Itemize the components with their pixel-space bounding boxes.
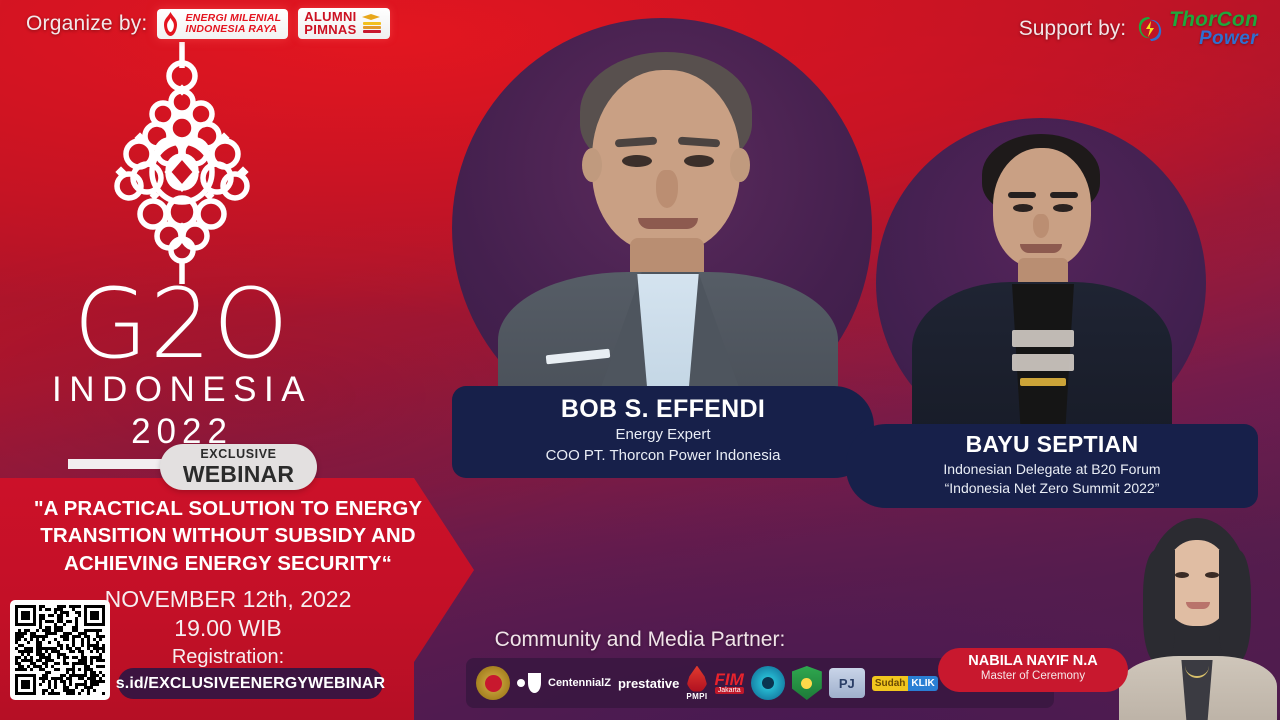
speaker-2-name-card: BAYU SEPTIAN Indonesian Delegate at B20 … [846,424,1258,508]
speaker-1-role-line1: Energy Expert [452,425,874,446]
thorcon-line1: ThorCon [1169,10,1258,30]
organize-by-group: Organize by: ENERGI MILENIAL INDONESIA R… [26,8,390,39]
exclusive-webinar-badge: EXCLUSIVE WEBINAR [160,444,317,490]
g20-wordmark: G2O [52,282,312,366]
pmpi-logo: PMPI [686,664,707,702]
pj-book-logo: PJ [829,664,865,702]
mc-role: Master of Ceremony [938,669,1128,684]
prestative-academy-logo: prestative [618,664,679,702]
fim-jakarta-logo: FIM Jakarta [715,664,744,702]
atom-community-logo [751,664,785,702]
speaker-2-name: BAYU SEPTIAN [846,432,1258,458]
centennialz-logo: CentennialZ [548,664,611,702]
alumni-pimnas-line2: PIMNAS [304,24,356,37]
centennialz-mark-icon [517,664,541,702]
organize-by-label: Organize by: [26,12,147,36]
g20-batik-ornament-icon [77,36,287,286]
sudahklik-logo: Sudah KLIK [872,664,938,702]
speaker-1-name: BOB S. EFFENDI [452,395,874,423]
support-by-label: Support by: [1019,17,1126,41]
gold-seal-logo [476,664,510,702]
registration-qr-code[interactable] [10,600,110,700]
green-shield-logo [792,664,822,702]
thorcon-wordmark: ThorCon Power [1169,10,1258,48]
mc-name: NABILA NAYIF N.A [938,653,1128,669]
thorcon-swirl-icon [1136,15,1164,43]
speaker-1-name-card: BOB S. EFFENDI Energy Expert COO PT. Tho… [452,386,874,478]
webinar-title: "A PRACTICAL SOLUTION TO ENERGY TRANSITI… [28,495,428,577]
g20-country-label: INDONESIA [52,370,312,410]
speaker-2-role-line2: “Indonesia Net Zero Summit 2022” [846,479,1258,498]
thorcon-power-logo: ThorCon Power [1136,10,1258,48]
mc-name-card: NABILA NAYIF N.A Master of Ceremony [938,648,1128,692]
webinar-poster: Organize by: ENERGI MILENIAL INDONESIA R… [0,0,1280,720]
alumni-pimnas-logo: ALUMNI PIMNAS [298,8,389,39]
alumni-pimnas-wordmark: ALUMNI PIMNAS [304,11,356,36]
energi-milenial-line2: INDONESIA RAYA [185,24,281,35]
flame-icon [161,12,180,36]
thorcon-line2: Power [1169,30,1258,48]
g20-indonesia-logo: G2O INDONESIA 2022 [52,36,312,452]
speaker-2-role-line1: Indonesian Delegate at B20 Forum [846,460,1258,479]
registration-url: s.id/EXCLUSIVEENERGYWEBINAR [116,675,385,693]
speaker-1-role-line2: COO PT. Thorcon Power Indonesia [452,446,874,467]
registration-link-pill[interactable]: s.id/EXCLUSIVEENERGYWEBINAR [118,668,383,699]
badge-webinar-label: WEBINAR [183,462,294,486]
energi-milenial-wordmark: ENERGI MILENIAL INDONESIA RAYA [185,13,281,34]
energi-milenial-logo: ENERGI MILENIAL INDONESIA RAYA [157,9,288,39]
top-credits-bar: Organize by: ENERGI MILENIAL INDONESIA R… [0,0,1280,52]
speaker-2-photo [890,122,1190,452]
speaker-1-photo [470,22,860,442]
badge-exclusive-label: EXCLUSIVE [200,448,276,461]
graduation-cap-books-icon [360,13,384,35]
support-by-group: Support by: ThorCon Power [1019,10,1258,48]
mc-photo [1105,510,1280,720]
